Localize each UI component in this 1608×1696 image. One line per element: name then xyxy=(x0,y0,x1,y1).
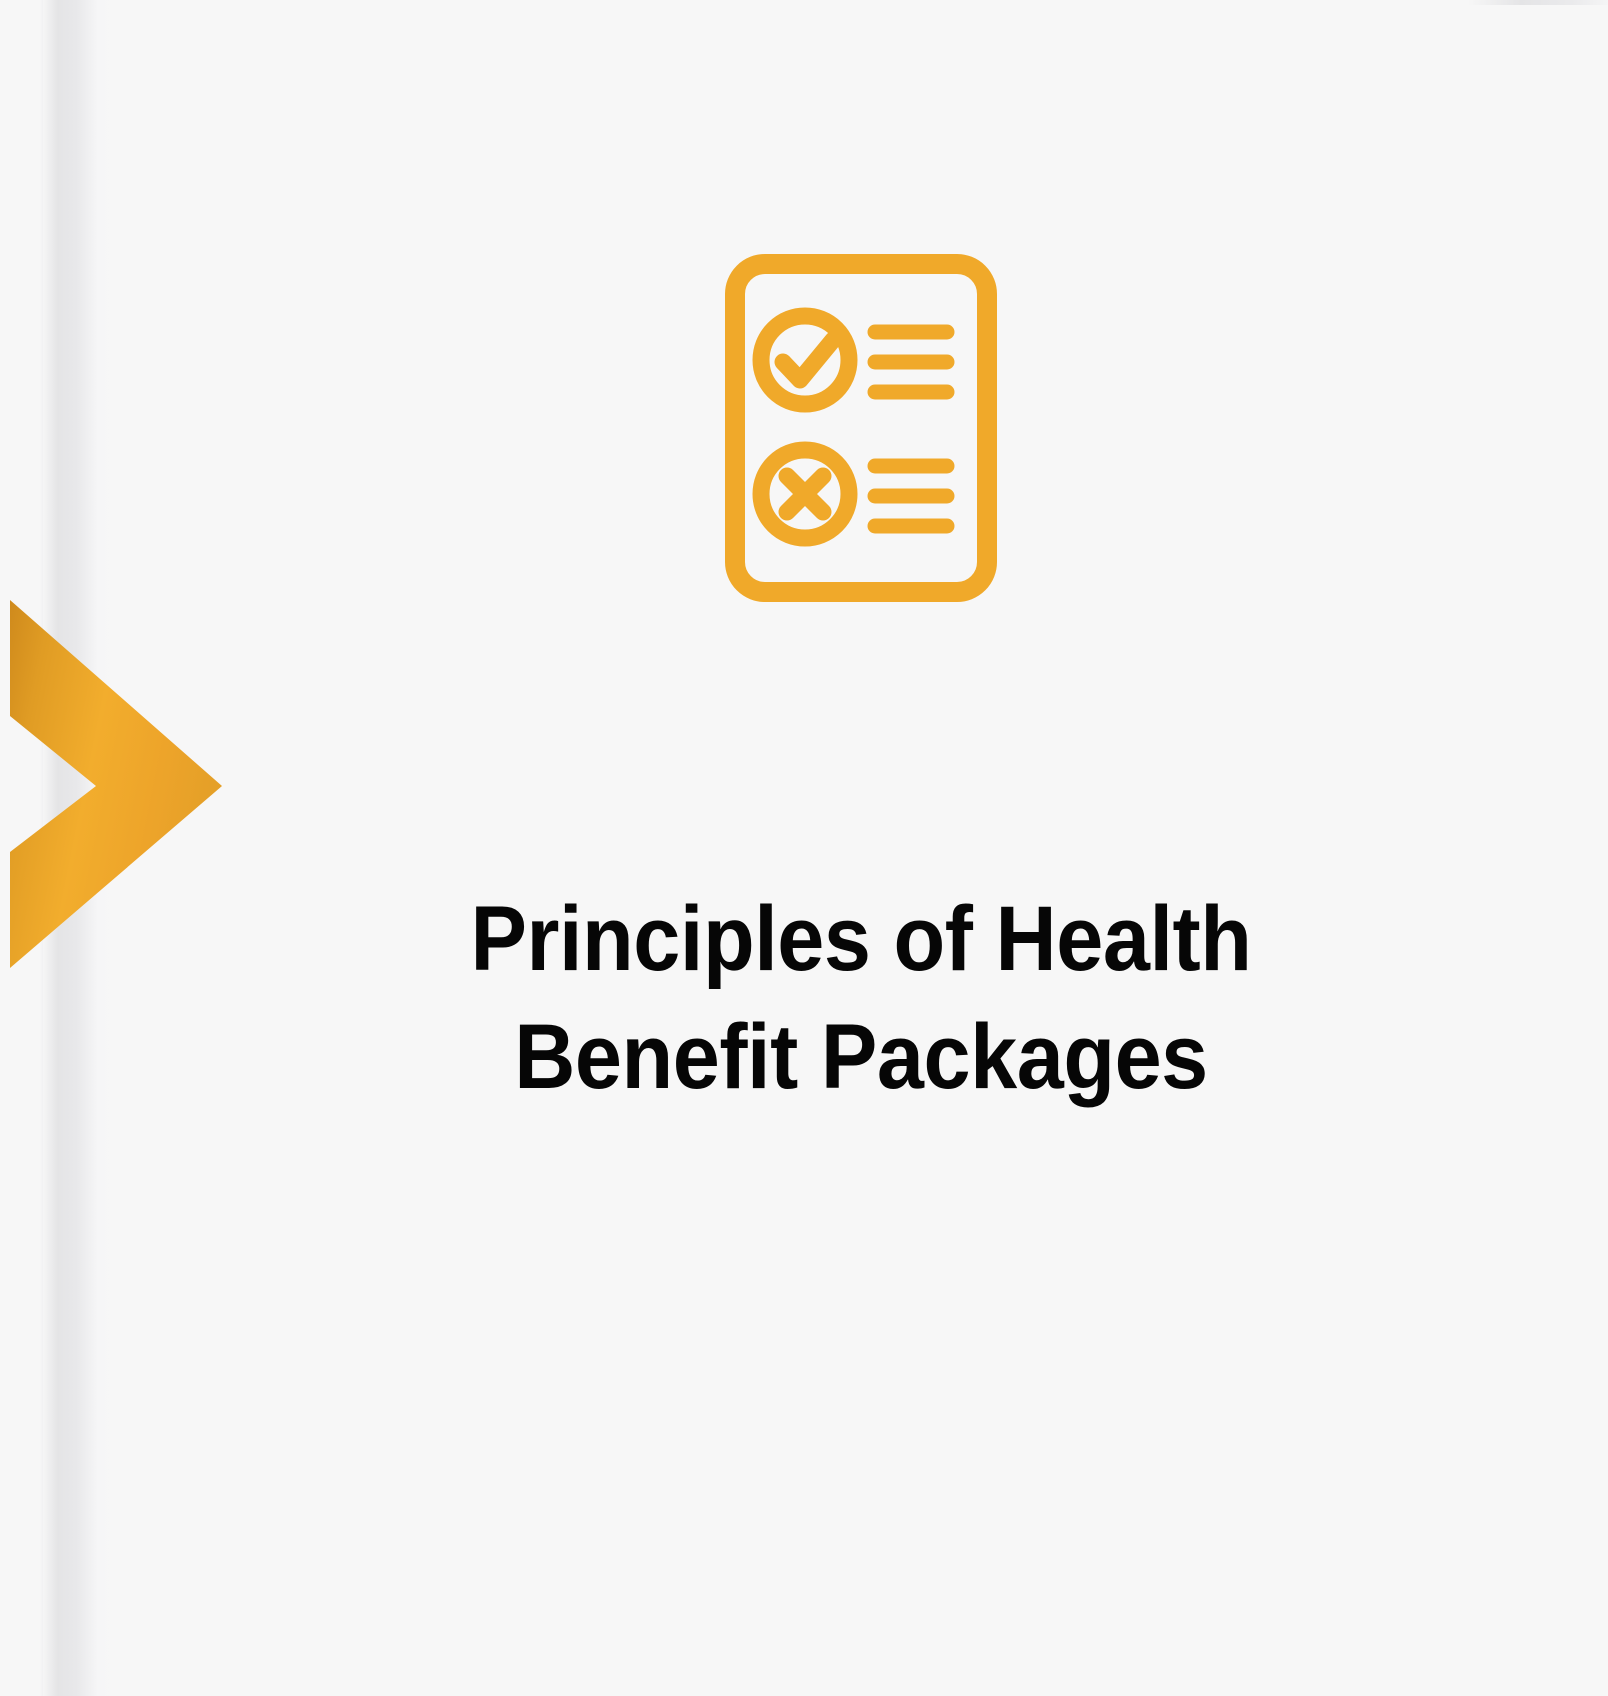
content-column: Principles of Health Benefit Packages xyxy=(114,0,1608,1696)
page-title-line-2: Benefit Packages xyxy=(514,1006,1208,1108)
checklist-document-icon xyxy=(723,252,999,604)
page-fold-edge xyxy=(40,0,43,1696)
page-fold-shadow xyxy=(42,0,114,1696)
page-title-line-1: Principles of Health xyxy=(471,888,1252,990)
page-title: Principles of Health Benefit Packages xyxy=(396,880,1325,1116)
slide-canvas: Principles of Health Benefit Packages xyxy=(0,0,1608,1696)
